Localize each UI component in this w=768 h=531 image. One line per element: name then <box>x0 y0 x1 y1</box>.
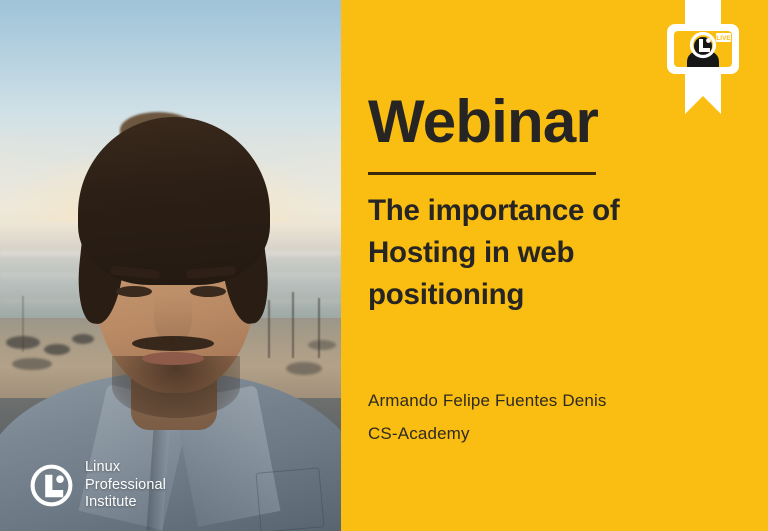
photo-beard <box>112 356 240 418</box>
lpi-wordmark-line-3: Institute <box>85 494 166 512</box>
content-panel: Webinar The importance of Hosting in web… <box>341 0 768 531</box>
subtitle-line-2: Hosting in web <box>368 232 708 274</box>
subtitle-line-1: The importance of <box>368 190 708 232</box>
photo-person <box>0 0 341 531</box>
photo-hair <box>78 117 270 285</box>
lpi-wordmark-line-1: Linux <box>85 459 166 477</box>
lpi-dot-glyph <box>706 38 711 43</box>
monitor-neck <box>696 74 710 80</box>
photo-eye-right <box>190 286 226 297</box>
photo-mustache <box>132 336 214 351</box>
lpi-circle-l-icon <box>29 463 74 508</box>
page-title: Webinar <box>368 92 598 152</box>
live-badge-label: LIVE <box>716 35 731 42</box>
lpi-wordmark-line-2: Professional <box>85 477 166 495</box>
photo-eye-left <box>116 286 152 297</box>
webinar-ribbon-badge-icon: LIVE <box>654 0 752 114</box>
subtitle-line-3: positioning <box>368 274 708 316</box>
speaker-info: Armando Felipe Fuentes Denis CS-Academy <box>368 384 738 450</box>
photo-shirt-pocket <box>256 467 325 531</box>
photo-mouth <box>142 352 204 365</box>
webinar-subtitle: The importance of Hosting in web positio… <box>368 190 708 316</box>
title-divider <box>368 172 596 175</box>
lpi-wordmark: Linux Professional Institute <box>85 459 166 512</box>
speaker-organization: CS-Academy <box>368 417 738 450</box>
lpi-logo: Linux Professional Institute <box>29 459 166 512</box>
speaker-name: Armando Felipe Fuentes Denis <box>368 384 738 417</box>
webinar-slide: Linux Professional Institute Webinar The… <box>0 0 768 531</box>
speaker-photo: Linux Professional Institute <box>0 0 341 531</box>
